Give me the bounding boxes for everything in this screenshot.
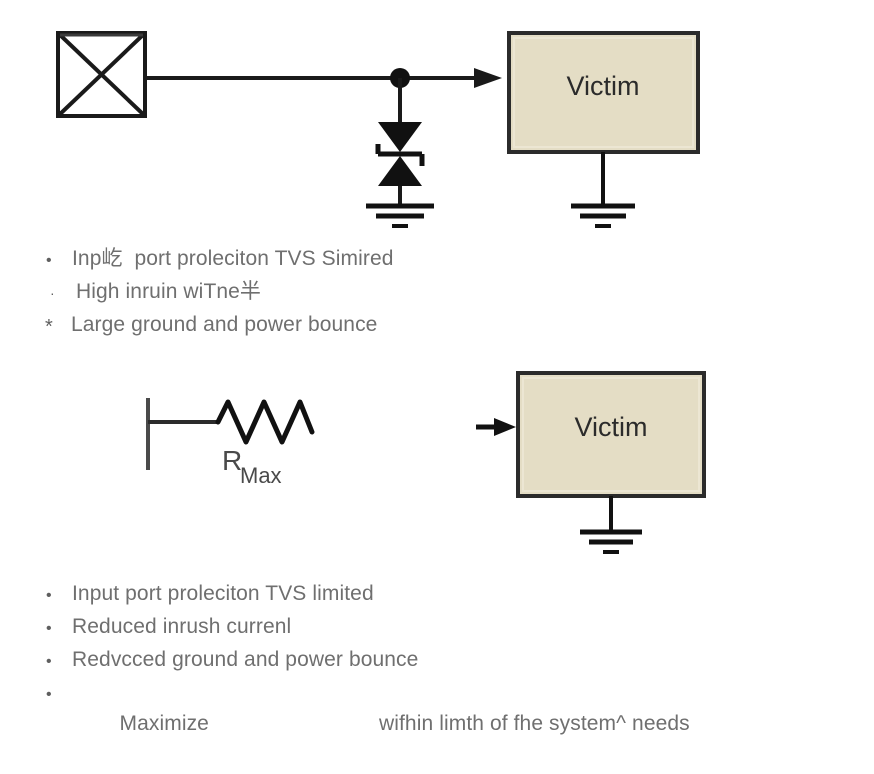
bullet-text: Reduced inrush currenl	[72, 611, 291, 642]
bullet-marker-icon: •	[40, 679, 72, 710]
ground-symbol-icon	[366, 206, 434, 226]
zigzag-resistor-icon	[218, 402, 312, 442]
bullet-marker-icon: ·	[40, 278, 76, 309]
list-item: • Input port proleciton TVS limited	[40, 578, 860, 611]
bottom-bullet-list: • Input port proleciton TVS limited • Re…	[40, 578, 860, 774]
list-item: · High inruin wiTne半	[40, 276, 760, 309]
bullet-text: High inruin wiTne半	[76, 276, 261, 307]
bullet-text: Maximizewifhin limth of fhe system^ need…	[72, 677, 690, 774]
victim-block-top: Victim	[509, 33, 698, 152]
arrow-right-icon	[474, 68, 502, 88]
bidirectional-tvs-diode-icon	[378, 122, 422, 204]
bullet-marker-icon: •	[40, 580, 72, 611]
resistor-label: R Max	[222, 445, 282, 488]
arrow-right-icon	[476, 418, 516, 436]
ground-symbol-icon	[580, 532, 642, 552]
top-schematic-diagram: Victim	[0, 0, 874, 240]
bullet-text: Redvcced ground and power bounce	[72, 644, 418, 675]
victim-label-bottom: Victim	[574, 412, 647, 442]
bullet-marker-icon: •	[40, 646, 72, 677]
bullet-marker-icon: •	[40, 613, 72, 644]
list-item: • Redvcced ground and power bounce	[40, 644, 860, 677]
list-item: * Large ground and power bounce	[40, 309, 760, 341]
ground-symbol-icon	[571, 206, 635, 226]
bullet-text: Inp屹 port proleciton TVS Simired	[72, 243, 394, 274]
list-item: • Inp屹 port proleciton TVS Simired	[40, 243, 760, 276]
bullet-text-before-gap: Maximize	[119, 708, 208, 739]
bullet-marker-icon: *	[40, 312, 71, 343]
victim-block-bottom: Victim	[518, 373, 704, 496]
list-item: • Reduced inrush currenl	[40, 611, 860, 644]
bullet-text: Large ground and power bounce	[71, 309, 377, 340]
victim-label-top: Victim	[566, 71, 639, 101]
bottom-schematic-diagram: R Max Victim	[0, 360, 874, 575]
bullet-marker-icon: •	[40, 245, 72, 276]
bullet-text-after-gap: wifhin limth of fhe system^ needs	[379, 708, 690, 739]
slide-canvas: Victim • Inp屹 port proleciton TVS Simire…	[0, 0, 874, 762]
bullet-text: Input port proleciton TVS limited	[72, 578, 374, 609]
resistor-label-sub: Max	[240, 463, 282, 488]
list-item: • Maximizewifhin limth of fhe system^ ne…	[40, 677, 860, 774]
crossed-box-surge-generator-icon	[58, 33, 145, 116]
top-bullet-list: • Inp屹 port proleciton TVS Simired · Hig…	[40, 243, 760, 341]
